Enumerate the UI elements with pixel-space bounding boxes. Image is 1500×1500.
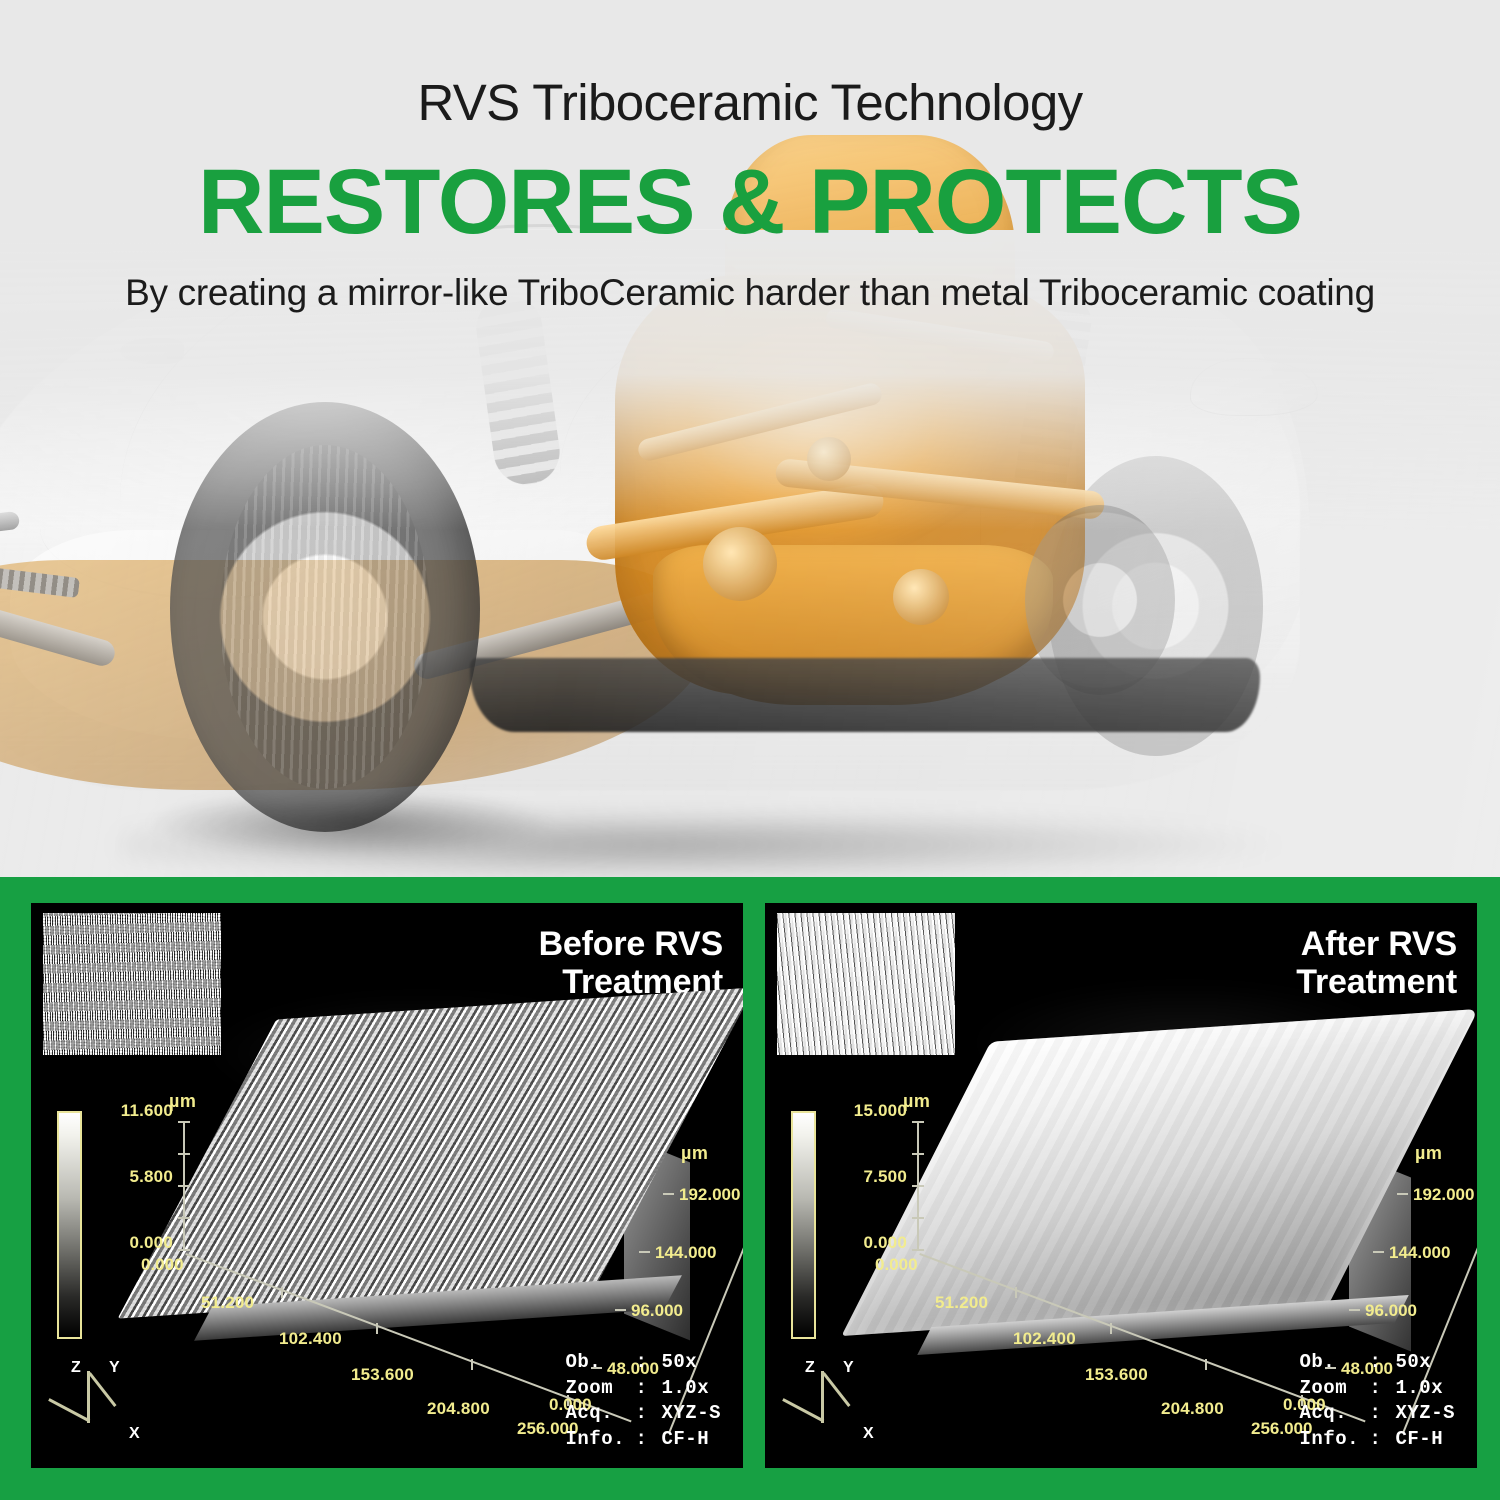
z-axis-tick [178,1185,190,1187]
x-axis-tick [1110,1323,1112,1334]
meta-value: CF-H [1395,1427,1443,1452]
colorbar-label: 0.000 [87,1233,173,1253]
meta-row: Zoom : 1.0x [565,1376,721,1401]
ground-shadow [120,810,1300,877]
meta-sep: : [635,1401,661,1426]
car-front-wheel [170,402,480,832]
colorbar-label: 0.000 [821,1233,907,1253]
x-axis-label: 204.800 [1161,1399,1224,1419]
y-axis-tick [615,1309,626,1311]
y-axis-label: 96.000 [631,1301,683,1321]
engine-bolt [703,527,777,601]
meta-row: Ob. : 50x [565,1350,721,1375]
x-axis-label: 153.600 [1085,1365,1148,1385]
x-axis-origin-before: 0.000 [141,1255,184,1275]
y-axis-label: 192.000 [1413,1185,1474,1205]
car-headlight [1190,358,1318,416]
gizmo-z-line [87,1371,90,1423]
gizmo-x-line [782,1398,824,1422]
x-axis-label: 102.400 [1013,1329,1076,1349]
meta-value: 1.0x [661,1376,709,1401]
meta-sep: : [635,1376,661,1401]
panel-before: Before RVS Treatment 11.600 5.800 0.000 … [31,903,743,1468]
meta-key: Ob. [1299,1350,1369,1375]
x-axis-tick [376,1323,378,1334]
car-mirror [120,338,184,364]
meta-sep: : [635,1350,661,1375]
y-axis-unit-after: µm [1415,1143,1442,1164]
gizmo-y-line [822,1372,850,1407]
meta-row: Info. : CF-H [565,1427,721,1452]
x-axis-origin-after: 0.000 [875,1255,918,1275]
x-axis-tick [471,1359,473,1370]
acquisition-info-before: Ob. : 50x Zoom : 1.0x Acq. : XYZ-S Info.… [565,1350,721,1452]
gizmo-x-line [48,1398,90,1422]
y-axis-label: 96.000 [1365,1301,1417,1321]
z-axis-unit-after: µm [903,1091,930,1112]
meta-value: 50x [661,1350,697,1375]
gizmo-y-label: Y [109,1359,120,1377]
y-axis-tick [1349,1309,1360,1311]
y-axis-label: 144.000 [655,1243,716,1263]
z-axis-unit-before: µm [169,1091,196,1112]
acquisition-info-after: Ob. : 50x Zoom : 1.0x Acq. : XYZ-S Info.… [1299,1350,1455,1452]
meta-row: Acq. : XYZ-S [565,1401,721,1426]
z-axis-tick [178,1153,190,1155]
meta-key: Info. [565,1427,635,1452]
surface-plot-after [925,1015,1425,1385]
meta-sep: : [1369,1401,1395,1426]
x-axis-label: 102.400 [279,1329,342,1349]
car-illustration [0,230,1500,877]
page-title: RVS Triboceramic Technology [0,76,1500,130]
meta-key: Ob. [565,1350,635,1375]
y-axis-tick [1373,1251,1384,1253]
panel-after: After RVS Treatment 15.000 7.500 0.000 µ… [765,903,1477,1468]
meta-key: Acq. [565,1401,635,1426]
meta-key: Zoom [565,1376,635,1401]
y-axis-label: 144.000 [1389,1243,1450,1263]
x-axis-tick [281,1287,283,1298]
meta-sep: : [1369,1376,1395,1401]
meta-value: XYZ-S [1395,1401,1455,1426]
hero-section: RVS Triboceramic Technology RESTORES & P… [0,0,1500,877]
z-axis-tick [912,1217,924,1219]
meta-value: 50x [1395,1350,1431,1375]
meta-row: Acq. : XYZ-S [1299,1401,1455,1426]
meta-value: 1.0x [1395,1376,1443,1401]
gizmo-y-label: Y [843,1359,854,1377]
x-axis-label: 204.800 [427,1399,490,1419]
gizmo-z-label: Z [805,1359,815,1377]
gizmo-z-label: Z [71,1359,81,1377]
meta-sep: : [1369,1427,1395,1452]
panel-title-before: Before RVS Treatment [393,925,723,1001]
meta-row: Zoom : 1.0x [1299,1376,1455,1401]
z-axis-tick [912,1185,924,1187]
gizmo-x-label: X [129,1425,140,1443]
z-axis-line-before [183,1121,185,1251]
x-axis-label: 51.200 [201,1293,254,1313]
meta-row: Ob. : 50x [1299,1350,1455,1375]
y-axis-tick [1397,1193,1408,1195]
engine-bolt [893,569,949,625]
axis-gizmo-after: Z Y X [801,1359,921,1449]
meta-row: Info. : CF-H [1299,1427,1455,1452]
y-axis-tick [663,1193,674,1195]
meta-sep: : [635,1427,661,1452]
colorbar-label: 15.000 [821,1101,907,1121]
meta-sep: : [1369,1350,1395,1375]
z-axis-tick [178,1249,190,1251]
y-axis-tick [639,1251,650,1253]
z-axis-tick [912,1121,924,1123]
colorbar-after [791,1111,816,1339]
colorbar-label: 7.500 [821,1167,907,1187]
meta-value: CF-H [661,1427,709,1452]
meta-key: Info. [1299,1427,1369,1452]
x-axis-tick [1015,1287,1017,1298]
z-axis-tick [912,1249,924,1251]
axis-gizmo-before: Z Y X [67,1359,187,1449]
gizmo-x-label: X [863,1425,874,1443]
colorbar-label: 5.800 [87,1167,173,1187]
micrograph-inset-before [43,913,221,1055]
meta-key: Zoom [1299,1376,1369,1401]
x-axis-label: 51.200 [935,1293,988,1313]
gizmo-y-line [88,1372,116,1407]
subtitle: By creating a mirror-like TriboCeramic h… [0,270,1500,317]
meta-key: Acq. [1299,1401,1369,1426]
y-axis-label: 192.000 [679,1185,740,1205]
gizmo-z-line [821,1371,824,1423]
comparison-section: Before RVS Treatment 11.600 5.800 0.000 … [0,877,1500,1500]
x-axis-label: 153.600 [351,1365,414,1385]
z-axis-tick [178,1121,190,1123]
headline: RESTORES & PROTECTS [0,156,1500,248]
advertisement-page: RVS Triboceramic Technology RESTORES & P… [0,0,1500,1500]
x-axis-tick [1205,1359,1207,1370]
header-text-block: RVS Triboceramic Technology RESTORES & P… [0,0,1500,317]
car-front-splitter [470,658,1260,732]
colorbar-before [57,1111,82,1339]
z-axis-tick [912,1153,924,1155]
colorbar-label: 11.600 [87,1101,173,1121]
y-axis-unit-before: µm [681,1143,708,1164]
meta-value: XYZ-S [661,1401,721,1426]
engine-bolt [807,437,851,481]
z-axis-tick [178,1217,190,1219]
z-axis-line-after [917,1121,919,1251]
